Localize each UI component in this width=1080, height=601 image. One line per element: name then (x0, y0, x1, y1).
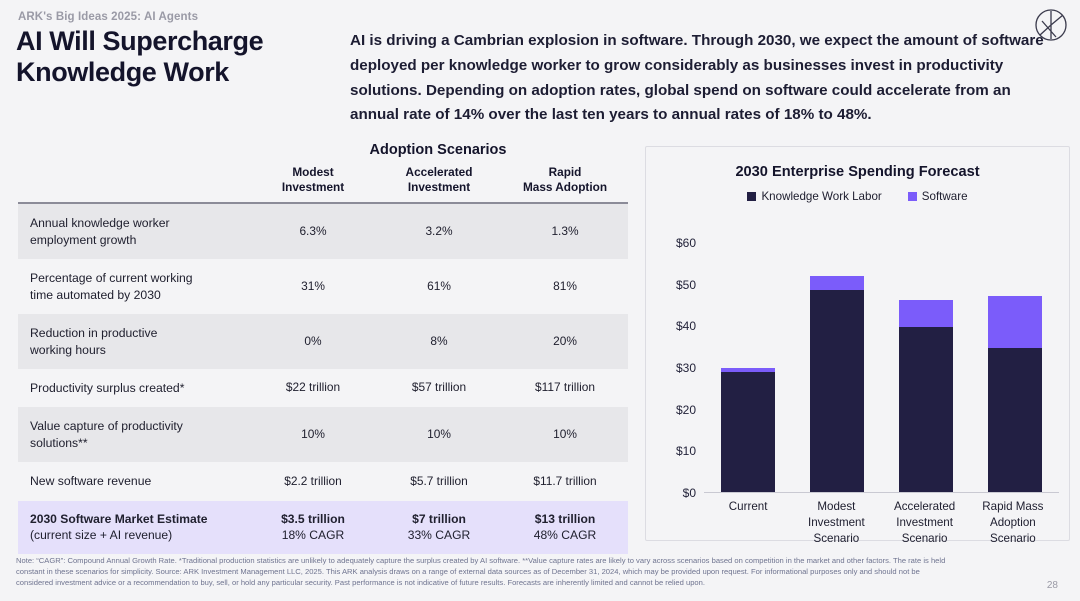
row-label: Annual knowledge worker employment growt… (18, 203, 250, 259)
cell-accelerated: 8% (376, 314, 502, 369)
spending-forecast-chart: 2030 Enterprise Spending Forecast Knowle… (645, 146, 1070, 541)
cell-modest: 10% (250, 407, 376, 462)
col-header-line-2: Investment (408, 180, 470, 194)
col-header-metric (18, 165, 250, 203)
cell-value: $3.5 trillion (281, 512, 345, 526)
cell-rapid: 1.3% (502, 203, 628, 259)
col-header-line-2: Mass Adoption (523, 180, 607, 194)
row-label-line: time automated by 2030 (30, 288, 161, 302)
table-row: Annual knowledge worker employment growt… (18, 203, 628, 259)
cell-modest: 6.3% (250, 203, 376, 259)
row-label: New software revenue (18, 462, 250, 500)
ark-invest-logo (1034, 8, 1068, 42)
row-label-line: working hours (30, 343, 106, 357)
cell-modest: $2.2 trillion (250, 462, 376, 500)
y-axis-tick: $20 (676, 403, 696, 417)
cell-rapid: $13 trillion 48% CAGR (502, 501, 628, 554)
y-axis-tick: $40 (676, 319, 696, 333)
row-label-line: solutions** (30, 436, 88, 450)
chart-title: 2030 Enterprise Spending Forecast (646, 164, 1069, 180)
row-label: Reduction in productive working hours (18, 314, 250, 369)
chart-bar (810, 276, 864, 492)
page-number: 28 (1047, 580, 1058, 591)
cell-modest: 0% (250, 314, 376, 369)
bar-segment-knowledge-work-labor (899, 327, 953, 492)
legend-swatch-icon (747, 192, 756, 201)
y-axis-tick: $10 (676, 444, 696, 458)
x-axis-tick-label: AcceleratedInvestmentScenario (882, 499, 968, 546)
cell-accelerated: $7 trillion 33% CAGR (376, 501, 502, 554)
chart-plot-area: $0$10$20$30$40$50$60 (646, 243, 1071, 493)
col-header-line-2: Investment (282, 180, 344, 194)
cell-rapid: 20% (502, 314, 628, 369)
cell-subvalue: 33% CAGR (380, 527, 498, 543)
slide-kicker: ARK's Big Ideas 2025: AI Agents (18, 11, 198, 23)
col-header-line-1: Rapid (549, 165, 582, 179)
row-label: Value capture of productivity solutions*… (18, 407, 250, 462)
x-axis-tick-label: Rapid MassAdoptionScenario (970, 499, 1056, 546)
cell-accelerated: $5.7 trillion (376, 462, 502, 500)
cell-modest: $22 trillion (250, 369, 376, 407)
table-header-row: Modest Investment Accelerated Investment… (18, 165, 628, 203)
cell-modest: 31% (250, 259, 376, 314)
y-axis-tick: $60 (676, 236, 696, 250)
col-header-line-1: Modest (292, 165, 333, 179)
cell-accelerated: 3.2% (376, 203, 502, 259)
row-label: Percentage of current working time autom… (18, 259, 250, 314)
y-axis-tick: $30 (676, 361, 696, 375)
row-label-line: Annual knowledge worker (30, 216, 170, 230)
legend-label: Software (922, 190, 968, 203)
bar-segment-knowledge-work-labor (988, 348, 1042, 492)
row-label-line: employment growth (30, 233, 136, 247)
table-row: Value capture of productivity solutions*… (18, 407, 628, 462)
chart-bar (988, 296, 1042, 492)
y-axis-tick: $0 (683, 486, 696, 500)
x-axis-labels: CurrentModestInvestmentScenarioAccelerat… (704, 499, 1057, 546)
cell-accelerated: $57 trillion (376, 369, 502, 407)
table-row: Percentage of current working time autom… (18, 259, 628, 314)
slide: ARK's Big Ideas 2025: AI Agents AI Will … (0, 0, 1080, 601)
bar-segment-software (810, 276, 864, 290)
row-label-line: Reduction in productive (30, 326, 157, 340)
cell-rapid: $11.7 trillion (502, 462, 628, 500)
cell-value: $7 trillion (412, 512, 466, 526)
y-axis-labels: $0$10$20$30$40$50$60 (654, 243, 696, 493)
row-label-market-estimate: 2030 Software Market Estimate (current s… (18, 501, 250, 554)
lede-paragraph: AI is driving a Cambrian explosion in so… (350, 29, 1050, 128)
table-row: Productivity surplus created* $22 trilli… (18, 369, 628, 407)
scenarios-title: Adoption Scenarios (18, 142, 628, 158)
table-row: New software revenue $2.2 trillion $5.7 … (18, 462, 628, 500)
cell-value: $13 trillion (535, 512, 596, 526)
cell-rapid: $117 trillion (502, 369, 628, 407)
cell-accelerated: 61% (376, 259, 502, 314)
chart-bars (704, 243, 1059, 493)
chart-bar (721, 368, 775, 492)
cell-rapid: 81% (502, 259, 628, 314)
x-axis-tick-label: Current (705, 499, 791, 546)
footnote: Note: “CAGR”: Compound Annual Growth Rat… (16, 556, 946, 588)
legend-label: Knowledge Work Labor (761, 190, 881, 203)
bar-segment-software (988, 296, 1042, 349)
legend-item-software: Software (908, 190, 968, 203)
cell-rapid: 10% (502, 407, 628, 462)
table-row-highlight: 2030 Software Market Estimate (current s… (18, 501, 628, 554)
bar-segment-knowledge-work-labor (810, 290, 864, 492)
col-header-accelerated-investment: Accelerated Investment (376, 165, 502, 203)
row-label: Productivity surplus created* (18, 369, 250, 407)
chart-bar (899, 300, 953, 492)
legend-item-knowledge-work-labor: Knowledge Work Labor (747, 190, 881, 203)
cell-modest: $3.5 trillion 18% CAGR (250, 501, 376, 554)
chart-legend: Knowledge Work Labor Software (646, 190, 1069, 203)
row-label-line: Percentage of current working (30, 271, 193, 285)
cell-subvalue: 48% CAGR (506, 527, 624, 543)
cell-accelerated: 10% (376, 407, 502, 462)
col-header-line-1: Accelerated (406, 165, 473, 179)
adoption-scenarios-table: Adoption Scenarios Modest Investment Acc… (18, 142, 628, 554)
x-axis-tick-label: ModestInvestmentScenario (793, 499, 879, 546)
page-title: AI Will Supercharge Knowledge Work (16, 26, 336, 89)
row-label-line: 2030 Software Market Estimate (30, 512, 207, 526)
row-label-line: Value capture of productivity (30, 419, 183, 433)
legend-swatch-icon (908, 192, 917, 201)
col-header-rapid-mass-adoption: Rapid Mass Adoption (502, 165, 628, 203)
y-axis-tick: $50 (676, 278, 696, 292)
bar-segment-software (899, 300, 953, 327)
cell-subvalue: 18% CAGR (254, 527, 372, 543)
col-header-modest-investment: Modest Investment (250, 165, 376, 203)
table-row: Reduction in productive working hours 0%… (18, 314, 628, 369)
bar-segment-knowledge-work-labor (721, 372, 775, 492)
row-label-sub: (current size + AI revenue) (30, 527, 246, 543)
